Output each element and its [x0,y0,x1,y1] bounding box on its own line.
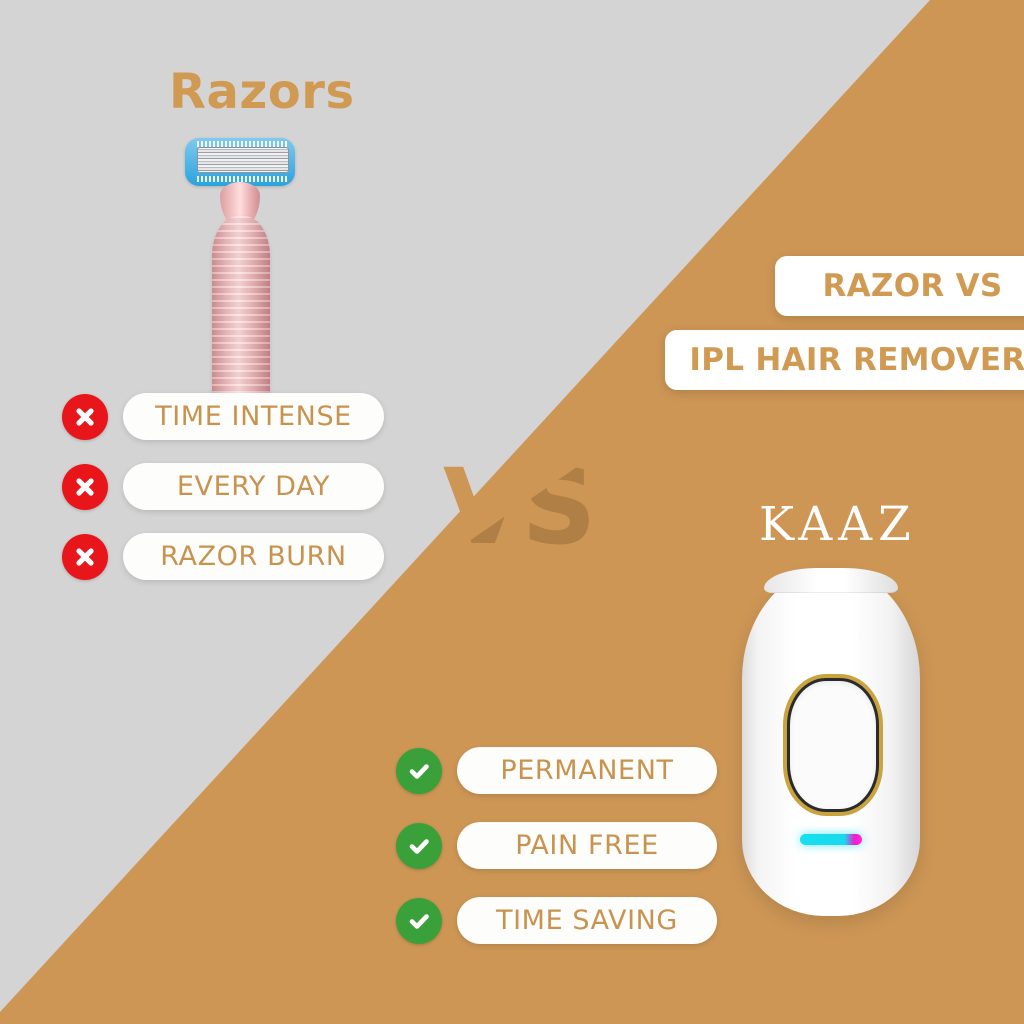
feature-label-permanent: PERMANENT [457,747,717,794]
feature-label-time-saving: TIME SAVING [457,897,717,944]
headline-badge-razor-vs: RAZOR VS [775,256,1024,316]
list-item: EVERY DAY [62,463,384,510]
left-panel-title: Razors [169,64,355,120]
razor-handle [212,216,270,406]
ipl-power-button [790,681,876,809]
feature-label-every-day: EVERY DAY [123,463,384,510]
vs-divider-label: VS VS [443,455,594,559]
check-icon [396,748,442,794]
check-icon [396,898,442,944]
razor-comb-bottom [197,176,289,182]
headline-badge-ipl-hair-remover: IPL HAIR REMOVER [665,330,1024,390]
list-item: PAIN FREE [396,822,717,869]
list-item: TIME INTENSE [62,393,384,440]
ipl-led-indicator [800,834,862,845]
brand-wordmark-kaaz: KAAZ [759,497,917,552]
razor-cartridge-head [185,138,295,186]
feature-label-pain-free: PAIN FREE [457,822,717,869]
razor-illustration [182,138,302,406]
comparison-ad-canvas: Razors VS VS RAZOR VS IPL HAIR REMOVER T… [0,0,1024,1024]
list-item: RAZOR BURN [62,533,384,580]
razor-blades [197,147,289,173]
cross-icon [62,534,108,580]
feature-label-razor-burn: RAZOR BURN [123,533,384,580]
list-item: TIME SAVING [396,897,717,944]
list-item: PERMANENT [396,747,717,794]
cross-icon [62,394,108,440]
cross-icon [62,464,108,510]
feature-label-time-intense: TIME INTENSE [123,393,384,440]
ipl-device-cap [764,568,898,593]
check-icon [396,823,442,869]
ipl-device-illustration [742,568,920,916]
